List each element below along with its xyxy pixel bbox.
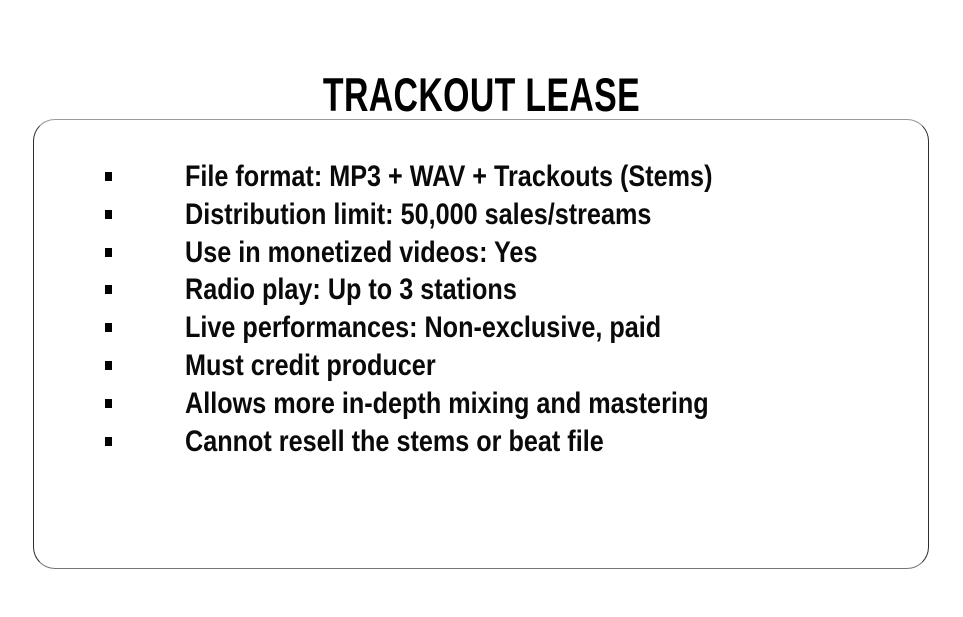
square-bullet-icon [105,210,112,219]
square-bullet-icon [105,399,112,408]
list-item-label: Distribution limit: 50,000 sales/streams [185,196,651,234]
square-bullet-icon [105,285,112,294]
list-item-label: Live performances: Non-exclusive, paid [185,309,661,347]
square-bullet-icon [105,323,112,332]
page-title: TRACKOUT LEASE [135,67,828,123]
list-item-label: Must credit producer [185,347,436,385]
square-bullet-icon [105,361,112,370]
square-bullet-icon [105,248,112,257]
list-item-label: Allows more in-depth mixing and masterin… [185,385,709,423]
list-item-label: Cannot resell the stems or beat file [185,423,604,461]
list-item-label: File format: MP3 + WAV + Trackouts (Stem… [185,158,712,196]
square-bullet-icon [105,172,112,181]
square-bullet-icon [105,437,112,446]
list-item-label: Radio play: Up to 3 stations [185,271,517,309]
slide-canvas: TRACKOUT LEASE File format: MP3 + WAV + … [0,0,963,617]
list-item-label: Use in monetized videos: Yes [185,234,537,272]
